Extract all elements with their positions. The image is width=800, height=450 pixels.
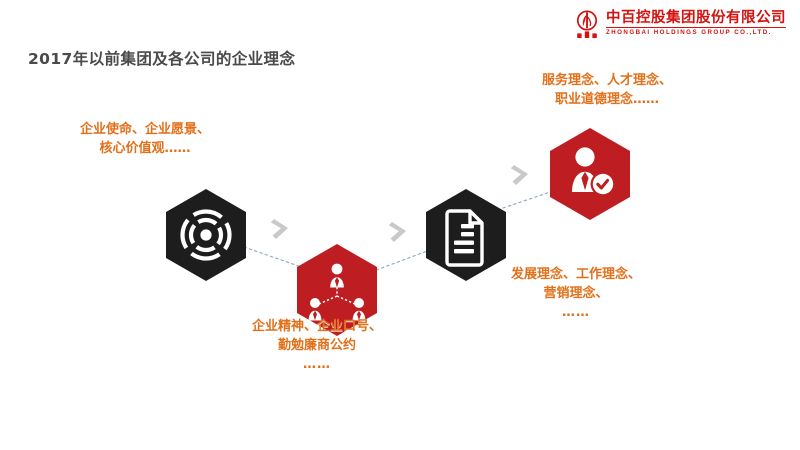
label-node-team: 企业精神、企业口号、 勤勉廉商公约 …… xyxy=(222,318,412,375)
label-line-1: 发展理念、工作理念、 xyxy=(511,267,641,282)
process-diagram xyxy=(0,0,800,450)
label-line-2: 营销理念、 xyxy=(543,286,608,301)
label-line-2: 核心价值观…… xyxy=(99,141,190,156)
arrow-2 xyxy=(389,222,406,242)
label-node-person-check: 服务理念、人才理念、 职业道德理念…… xyxy=(512,72,702,110)
label-line-1: 企业精神、企业口号、 xyxy=(252,319,382,334)
arrow-3 xyxy=(511,165,528,185)
connector-lines xyxy=(244,186,568,272)
arrow-1 xyxy=(271,219,288,239)
label-line-2: 职业道德理念…… xyxy=(555,92,659,107)
node-person-check[interactable] xyxy=(550,128,630,220)
label-ellipsis: …… xyxy=(468,304,684,323)
label-ellipsis: …… xyxy=(222,356,412,375)
slide-canvas: 中百控股集团股份有限公司 ZHONGBAI HOLDINGS GROUP CO.… xyxy=(0,0,800,450)
label-node-target: 企业使命、企业愿景、 核心价值观…… xyxy=(52,121,238,159)
label-line-1: 企业使命、企业愿景、 xyxy=(80,122,210,137)
label-node-document: 发展理念、工作理念、 营销理念、 …… xyxy=(468,266,684,323)
node-target[interactable] xyxy=(166,189,246,281)
label-line-1: 服务理念、人才理念、 xyxy=(542,73,672,88)
label-line-2: 勤勉廉商公约 xyxy=(278,338,356,353)
